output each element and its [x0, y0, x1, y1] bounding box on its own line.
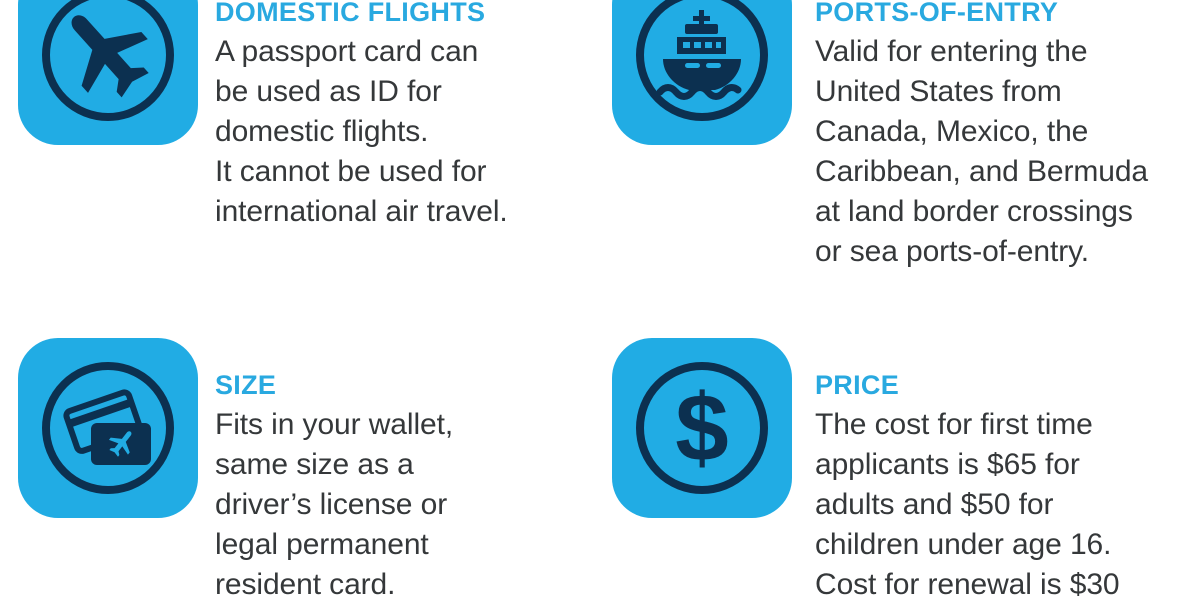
info-card-domestic-flights: DOMESTIC FLIGHTS A passport card can be … [0, 0, 594, 232]
icon-tile-wrapper [594, 0, 809, 145]
card-body: The cost for first time applicants is $6… [815, 405, 1189, 600]
card-heading: DOMESTIC FLIGHTS [215, 0, 594, 29]
icon-tile [612, 0, 792, 145]
cruise-ship-icon [627, 0, 777, 130]
info-card-ports-of-entry: PORTS-OF-ENTRY Valid for entering the Un… [594, 0, 1189, 272]
card-heading: PORTS-OF-ENTRY [815, 0, 1189, 29]
icon-tile-wrapper: $ [594, 338, 809, 518]
card-heading: PRICE [815, 368, 1189, 402]
icon-tile: $ [612, 338, 792, 518]
card-heading: SIZE [215, 368, 594, 402]
icon-tile-wrapper [0, 338, 215, 518]
info-card-size: SIZE Fits in your wallet, same size as a… [0, 338, 594, 600]
card-body: A passport card can be used as ID for do… [215, 32, 594, 232]
card-body: Valid for entering the United States fro… [815, 32, 1189, 272]
wallet-cards-icon [33, 353, 183, 503]
icon-tile [18, 338, 198, 518]
info-card-text: PRICE The cost for first time applicants… [809, 338, 1189, 600]
info-card-text: DOMESTIC FLIGHTS A passport card can be … [215, 0, 594, 232]
info-card-text: SIZE Fits in your wallet, same size as a… [215, 338, 594, 600]
info-card-text: PORTS-OF-ENTRY Valid for entering the Un… [809, 0, 1189, 272]
card-body: Fits in your wallet, same size as a driv… [215, 405, 594, 600]
info-card-price: $ PRICE The cost for first time applican… [594, 338, 1189, 600]
dollar-sign-icon: $ [627, 353, 777, 503]
infographic-canvas: DOMESTIC FLIGHTS A passport card can be … [0, 0, 1189, 600]
icon-tile [18, 0, 198, 145]
icon-tile-wrapper [0, 0, 215, 145]
svg-text:$: $ [675, 375, 728, 482]
airplane-icon [33, 0, 183, 130]
